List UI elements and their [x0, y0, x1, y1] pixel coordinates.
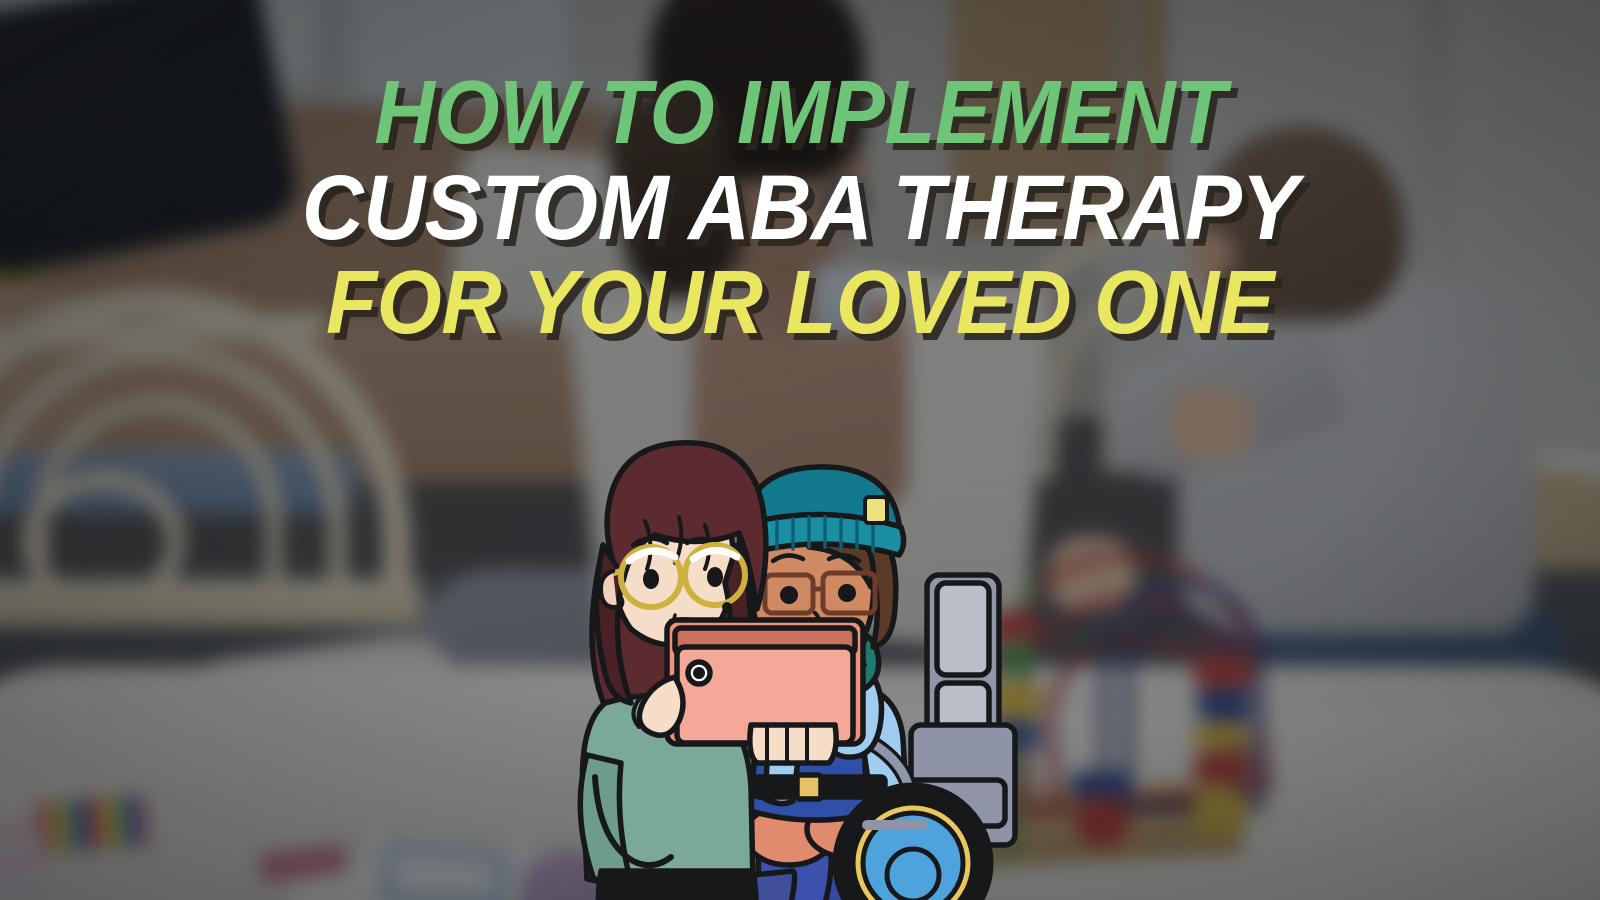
holding-hand [750, 725, 836, 763]
headline-line-3: FOR YOUR LOVED ONE [56, 258, 1544, 348]
headline-line-2: CUSTOM ABA THERAPY [56, 162, 1544, 254]
headline-line-1: HOW TO IMPLEMENT [56, 68, 1544, 158]
headline-block: HOW TO IMPLEMENT CUSTOM ABA THERAPY FOR … [0, 68, 1600, 348]
hero-banner: HOW TO IMPLEMENT CUSTOM ABA THERAPY FOR … [0, 0, 1600, 900]
therapist-and-child-illustration [575, 425, 1045, 900]
foreground-illustration [575, 425, 1045, 900]
